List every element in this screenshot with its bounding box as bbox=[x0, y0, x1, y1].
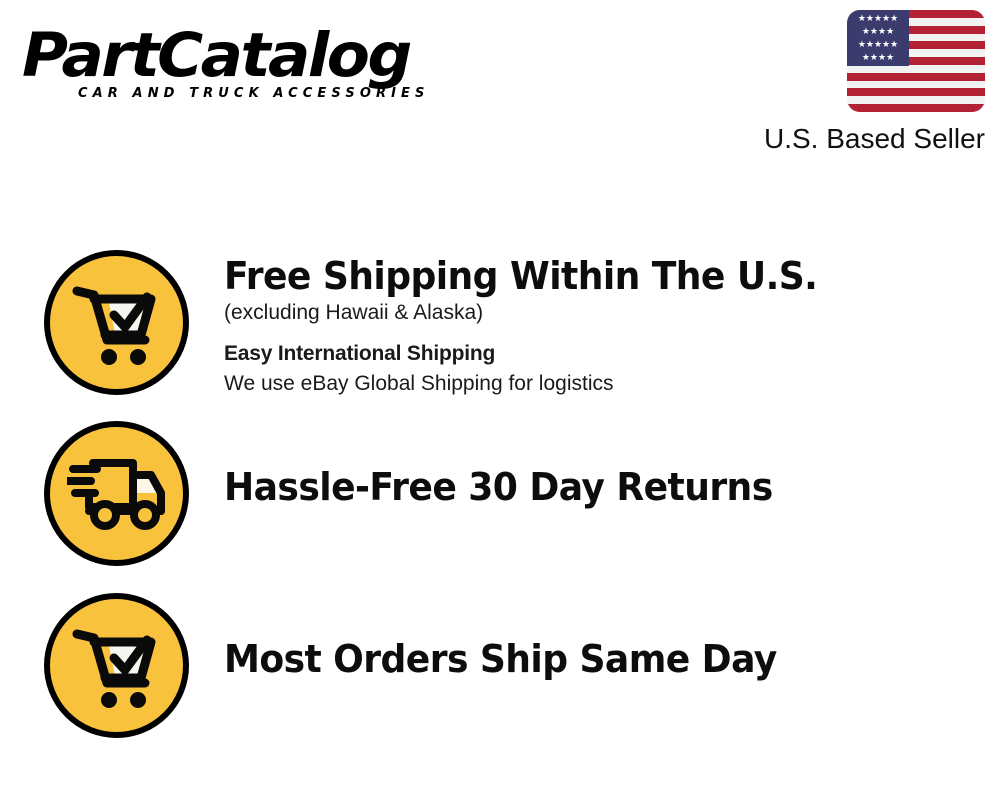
flag-stripe bbox=[847, 73, 985, 81]
feature-text: Free Shipping Within The U.S. (excluding… bbox=[189, 250, 974, 399]
shopping-cart-check-icon bbox=[44, 593, 189, 738]
brand-wordmark: PartCatalog bbox=[22, 22, 506, 90]
delivery-truck-icon bbox=[44, 421, 189, 566]
brand-logo[interactable]: PartCatalog CAR AND TRUCK ACCESSORIES bbox=[22, 22, 492, 117]
flag-stripe bbox=[847, 65, 985, 73]
feature-headline: Free Shipping Within The U.S. bbox=[224, 254, 937, 298]
flag-stripe bbox=[847, 104, 985, 112]
feature-text: Hassle-Free 30 Day Returns bbox=[189, 421, 974, 509]
us-flag-icon: ★★★★★ ★★★★ ★★★★★ ★★★★ bbox=[847, 10, 985, 112]
feature-sub-heading: Easy International Shipping bbox=[224, 339, 974, 369]
feature-sub-detail: We use eBay Global Shipping for logistic… bbox=[224, 369, 974, 399]
feature-sub-note: (excluding Hawaii & Alaska) bbox=[224, 298, 974, 328]
flag-stripe bbox=[847, 96, 985, 104]
feature-row-same-day-shipping: Most Orders Ship Same Day bbox=[44, 593, 974, 738]
flag-star-row: ★★★★★ bbox=[847, 14, 909, 23]
shopping-cart-check-icon bbox=[44, 250, 189, 395]
flag-star-row: ★★★★★ bbox=[847, 40, 909, 49]
feature-headline: Most Orders Ship Same Day bbox=[224, 637, 937, 681]
feature-row-returns: Hassle-Free 30 Day Returns bbox=[44, 421, 974, 566]
flag-stripe bbox=[847, 88, 985, 96]
feature-text: Most Orders Ship Same Day bbox=[189, 593, 974, 681]
feature-row-free-shipping: Free Shipping Within The U.S. (excluding… bbox=[44, 250, 974, 399]
flag-stripe bbox=[847, 81, 985, 89]
flag-star-row: ★★★★ bbox=[847, 53, 909, 62]
feature-headline: Hassle-Free 30 Day Returns bbox=[224, 465, 937, 509]
us-based-seller-label: U.S. Based Seller bbox=[715, 123, 985, 155]
us-based-seller-badge: ★★★★★ ★★★★ ★★★★★ ★★★★ U.S. Based Seller bbox=[715, 10, 985, 155]
flag-star-row: ★★★★ bbox=[847, 27, 909, 36]
page-header: PartCatalog CAR AND TRUCK ACCESSORIES ★★ bbox=[0, 0, 1000, 175]
